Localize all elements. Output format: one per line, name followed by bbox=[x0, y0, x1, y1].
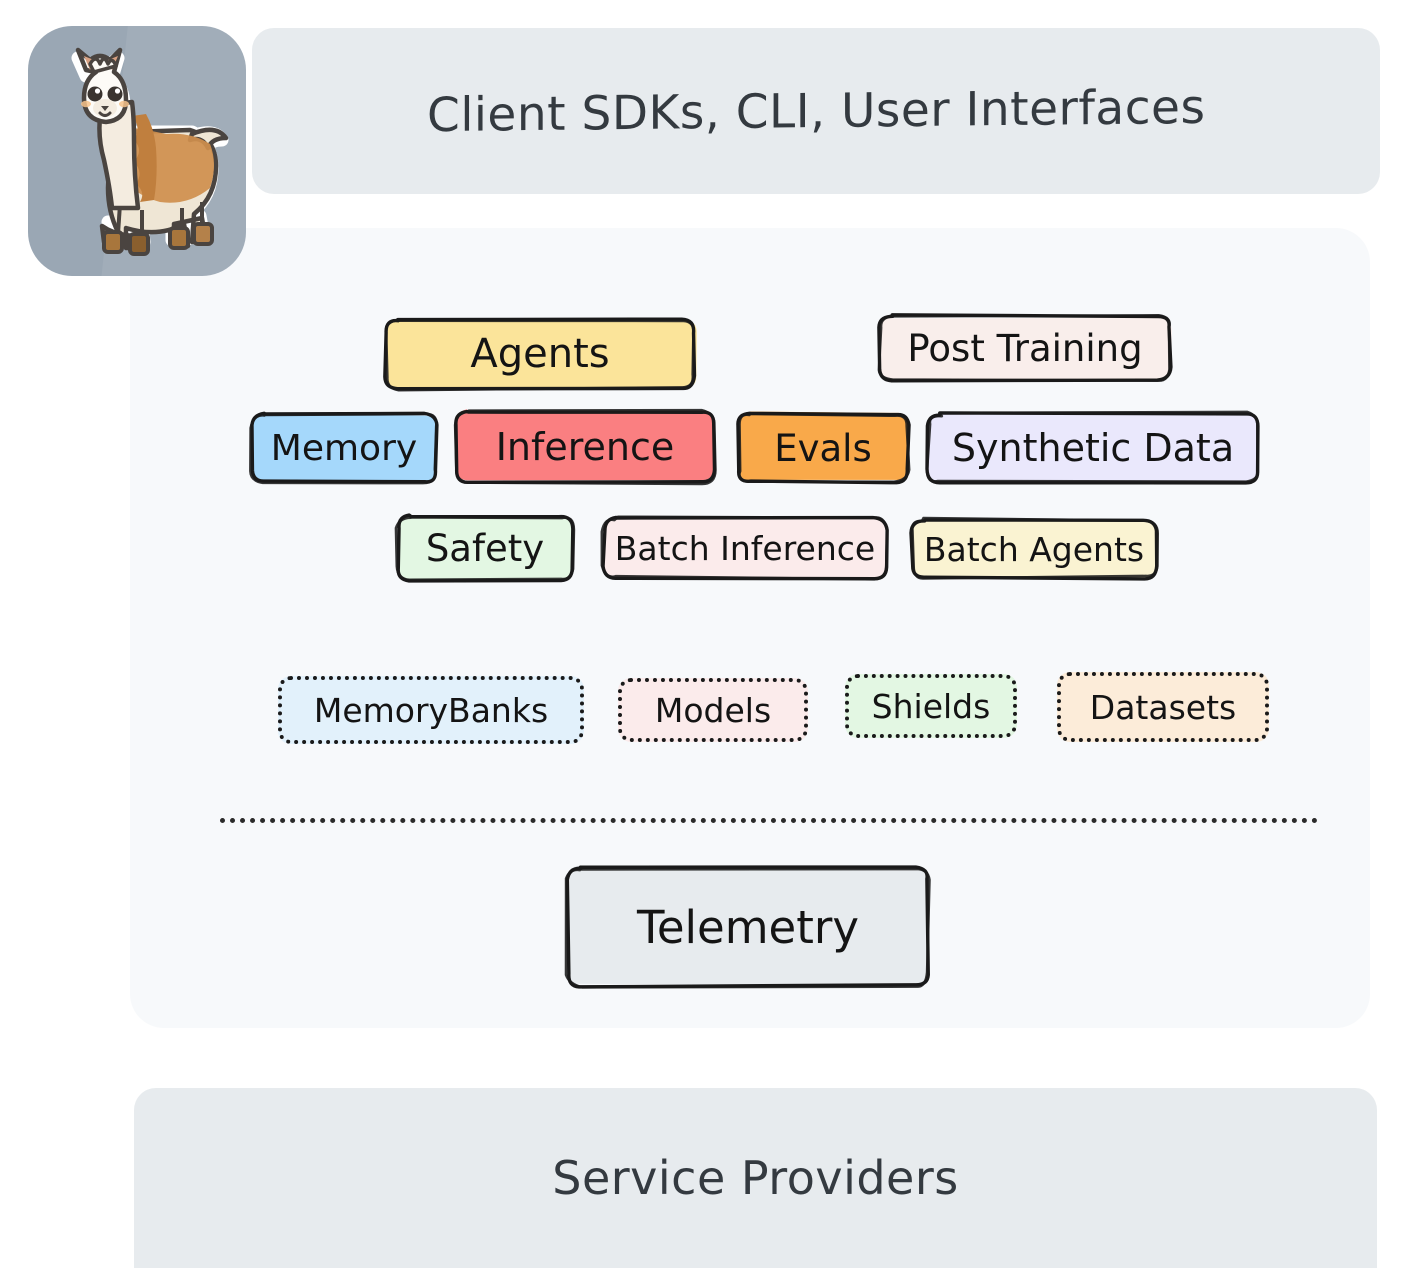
resource-box-memorybanks-label: MemoryBanks bbox=[314, 691, 548, 730]
section-divider bbox=[220, 818, 1318, 823]
api-box-agents[interactable]: Agents bbox=[386, 320, 694, 388]
api-box-safety-label: Safety bbox=[426, 527, 544, 570]
api-box-safety[interactable]: Safety bbox=[398, 516, 572, 580]
api-box-batch-agents[interactable]: Batch Agents bbox=[912, 520, 1156, 578]
api-box-post-training[interactable]: Post Training bbox=[880, 316, 1170, 380]
resource-box-models-label: Models bbox=[655, 691, 771, 730]
api-box-evals-label: Evals bbox=[774, 427, 872, 470]
client-layer-title: Client SDKs, CLI, User Interfaces bbox=[427, 79, 1205, 142]
api-box-agents-label: Agents bbox=[470, 331, 609, 377]
telemetry-box-label: Telemetry bbox=[637, 901, 859, 954]
diagram-canvas: Client SDKs, CLI, User Interfaces bbox=[0, 0, 1410, 1268]
api-box-batch-inference-label: Batch Inference bbox=[615, 529, 875, 568]
api-box-inference[interactable]: Inference bbox=[456, 412, 714, 482]
api-box-batch-agents-label: Batch Agents bbox=[924, 530, 1144, 569]
service-providers-title: Service Providers bbox=[552, 1151, 959, 1205]
api-box-synthetic-data-label: Synthetic Data bbox=[952, 426, 1234, 470]
resource-box-memorybanks[interactable]: MemoryBanks bbox=[278, 676, 584, 744]
api-box-batch-inference[interactable]: Batch Inference bbox=[604, 518, 886, 578]
api-box-synthetic-data[interactable]: Synthetic Data bbox=[928, 414, 1258, 482]
api-box-memory-label: Memory bbox=[271, 428, 417, 469]
client-layer-bar: Client SDKs, CLI, User Interfaces bbox=[252, 28, 1380, 194]
telemetry-box[interactable]: Telemetry bbox=[568, 868, 928, 986]
llama-logo-icon bbox=[42, 36, 232, 266]
api-box-evals[interactable]: Evals bbox=[738, 414, 908, 482]
llama-logo-tile bbox=[28, 26, 246, 276]
resource-box-shields-label: Shields bbox=[872, 687, 991, 726]
resource-box-models[interactable]: Models bbox=[618, 678, 808, 742]
api-box-inference-label: Inference bbox=[496, 425, 675, 469]
service-providers-bar: Service Providers bbox=[134, 1088, 1377, 1268]
api-box-post-training-label: Post Training bbox=[907, 327, 1142, 370]
resource-box-datasets-label: Datasets bbox=[1090, 688, 1236, 727]
resource-box-datasets[interactable]: Datasets bbox=[1057, 672, 1269, 742]
api-box-memory[interactable]: Memory bbox=[252, 414, 436, 482]
resource-box-shields[interactable]: Shields bbox=[845, 674, 1017, 738]
